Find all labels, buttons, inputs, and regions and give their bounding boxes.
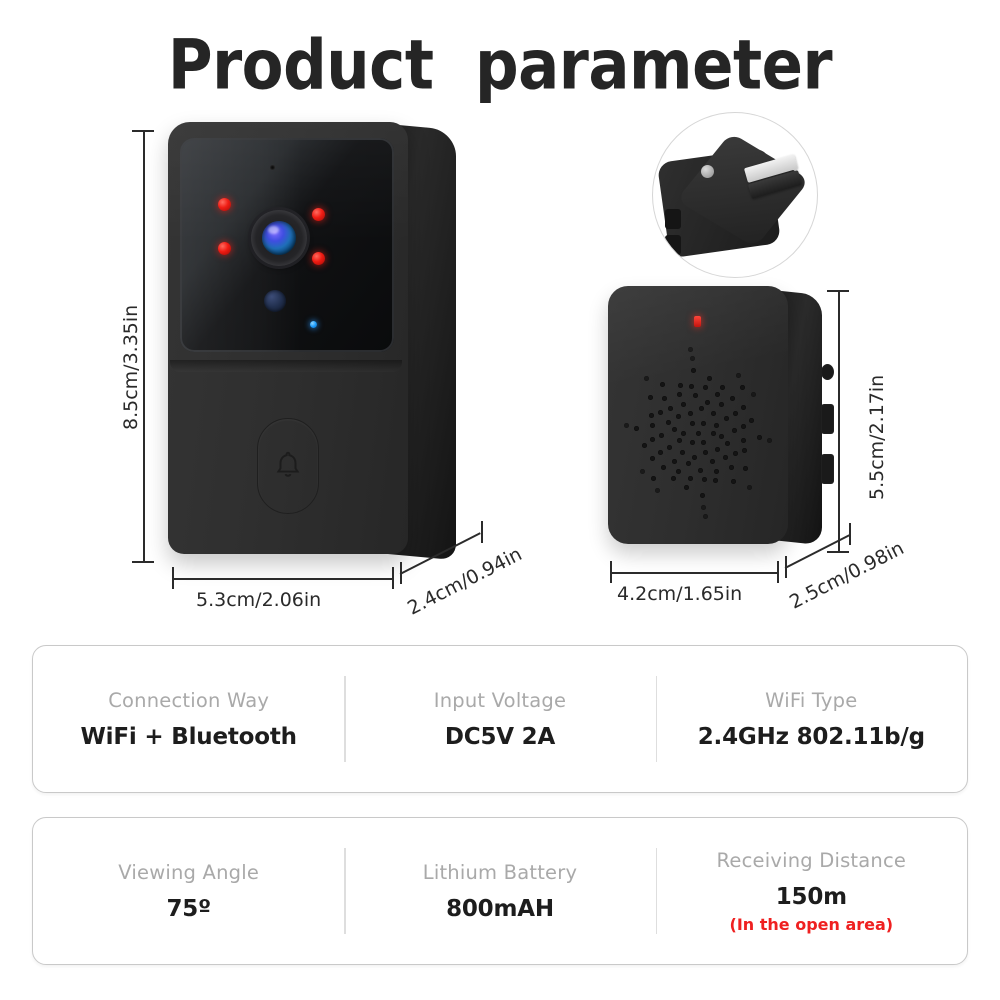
doorbell-width-line: [172, 578, 393, 580]
dim-cap: [827, 551, 849, 553]
status-led-icon: [310, 321, 317, 328]
dim-cap: [132, 561, 154, 563]
spec-value: 2.4GHz 802.11b/g: [698, 724, 925, 750]
plug-side-button: [665, 235, 681, 255]
chime-button-pair[interactable]: [821, 454, 834, 484]
page-title: Product parameter: [0, 26, 1000, 106]
ir-led-icon: [312, 208, 325, 221]
chime-button-volume[interactable]: [821, 364, 834, 380]
spec-column: Input Voltage DC5V 2A: [344, 676, 655, 762]
chime-height-line: [838, 290, 840, 552]
dim-cap: [849, 523, 851, 545]
dim-cap: [777, 561, 779, 583]
chime-product-image: [608, 286, 828, 554]
spec-label: Lithium Battery: [423, 861, 577, 884]
spec-label: Viewing Angle: [118, 861, 259, 884]
spec-value: 150m: [776, 884, 847, 910]
dim-cap: [785, 556, 787, 578]
chime-button-melody[interactable]: [821, 404, 834, 434]
doorbell-seam: [170, 360, 402, 372]
dim-cap: [132, 130, 154, 132]
chime-status-led-icon: [694, 316, 701, 327]
spec-column: Lithium Battery 800mAH: [344, 848, 655, 934]
spec-card-2: Viewing Angle 75º Lithium Battery 800mAH…: [32, 817, 968, 965]
doorbell-camera-panel: [180, 138, 394, 352]
pir-sensor-icon: [264, 290, 286, 312]
doorbell-height-label: 8.5cm/3.35in: [120, 305, 142, 430]
dim-cap: [400, 562, 402, 584]
spec-label: Connection Way: [108, 689, 269, 712]
dim-cap: [392, 567, 394, 589]
chime-plug-detail-inset: [652, 112, 818, 278]
chime-height-label: 5.5cm/2.17in: [866, 375, 888, 500]
spec-column: Viewing Angle 75º: [33, 848, 344, 934]
ir-led-icon: [312, 252, 325, 265]
spec-value: DC5V 2A: [445, 724, 555, 750]
spec-value: 800mAH: [446, 896, 554, 922]
product-parameter-page: Product parameter: [0, 0, 1000, 1000]
camera-lens-icon: [251, 210, 307, 266]
doorbell-height-line: [143, 130, 145, 562]
chime-width-label: 4.2cm/1.65in: [617, 583, 742, 605]
plug-side-button: [665, 209, 681, 229]
dim-cap: [172, 567, 174, 589]
spec-label: Input Voltage: [434, 689, 566, 712]
ir-led-icon: [218, 198, 231, 211]
spec-label: Receiving Distance: [717, 849, 907, 872]
dim-cap: [827, 290, 849, 292]
doorbell-press-button[interactable]: [257, 418, 319, 514]
speaker-grille-icon: [618, 338, 778, 528]
dim-cap: [610, 561, 612, 583]
microphone-icon: [270, 165, 275, 170]
chime-width-line: [610, 572, 778, 574]
spec-column: Connection Way WiFi + Bluetooth: [33, 676, 344, 762]
spec-label: WiFi Type: [765, 689, 857, 712]
ir-led-icon: [218, 242, 231, 255]
chime-front-face: [608, 286, 788, 544]
spec-value: 75º: [166, 896, 210, 922]
screw-icon: [701, 165, 714, 178]
spec-note: (In the open area): [730, 915, 894, 934]
lens-iris: [262, 221, 296, 255]
dim-cap: [481, 521, 483, 543]
spec-column: WiFi Type 2.4GHz 802.11b/g: [656, 676, 967, 762]
doorbell-width-label: 5.3cm/2.06in: [196, 589, 321, 611]
doorbell-product-image: [168, 122, 458, 562]
spec-card-1: Connection Way WiFi + Bluetooth Input Vo…: [32, 645, 968, 793]
spec-column: Receiving Distance 150m (In the open are…: [656, 848, 967, 934]
bell-icon: [270, 448, 306, 484]
spec-value: WiFi + Bluetooth: [81, 724, 297, 750]
doorbell-front-face: [168, 122, 408, 554]
